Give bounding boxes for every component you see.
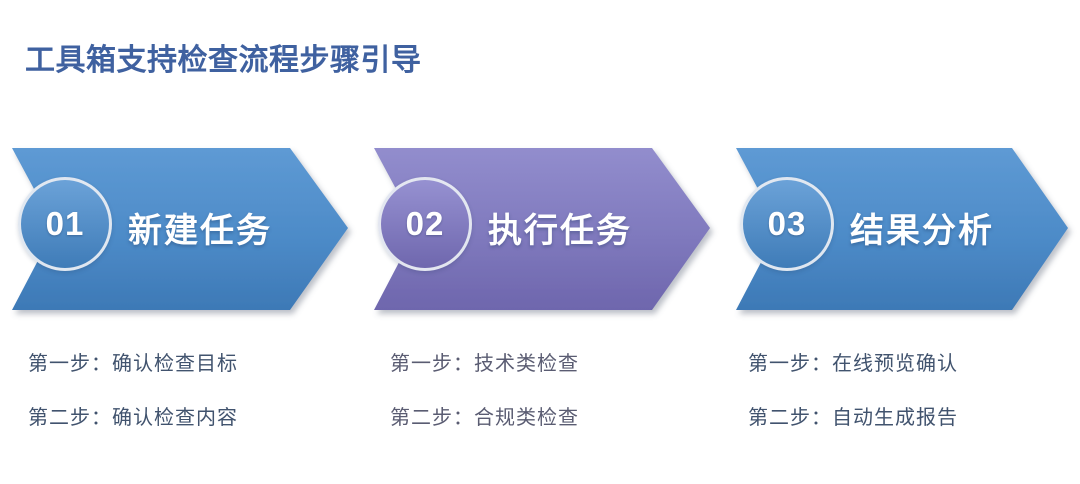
chevron-step-2[interactable] xyxy=(374,148,710,310)
chevron-step-1[interactable] xyxy=(12,148,348,310)
detail-line: 第二步：自动生成报告 xyxy=(748,406,1078,430)
chevron-step-3[interactable] xyxy=(736,148,1068,310)
chevron-shapes xyxy=(0,140,1080,325)
detail-line: 第二步：合规类检查 xyxy=(390,406,720,430)
detail-line: 第一步：在线预览确认 xyxy=(748,352,1078,376)
step-3-detail-list: 第一步：在线预览确认 第二步：自动生成报告 xyxy=(748,352,1078,430)
detail-line: 第二步：确认检查内容 xyxy=(28,406,358,430)
step-1-detail-list: 第一步：确认检查目标 第二步：确认检查内容 xyxy=(28,352,358,430)
step-2-detail-list: 第一步：技术类检查 第二步：合规类检查 xyxy=(390,352,720,430)
process-flow-diagram: 01 新建任务 02 执行任务 03 结果分析 xyxy=(0,140,1080,325)
detail-line: 第一步：技术类检查 xyxy=(390,352,720,376)
detail-line: 第一步：确认检查目标 xyxy=(28,352,358,376)
page-title: 工具箱支持检查流程步骤引导 xyxy=(25,35,422,79)
